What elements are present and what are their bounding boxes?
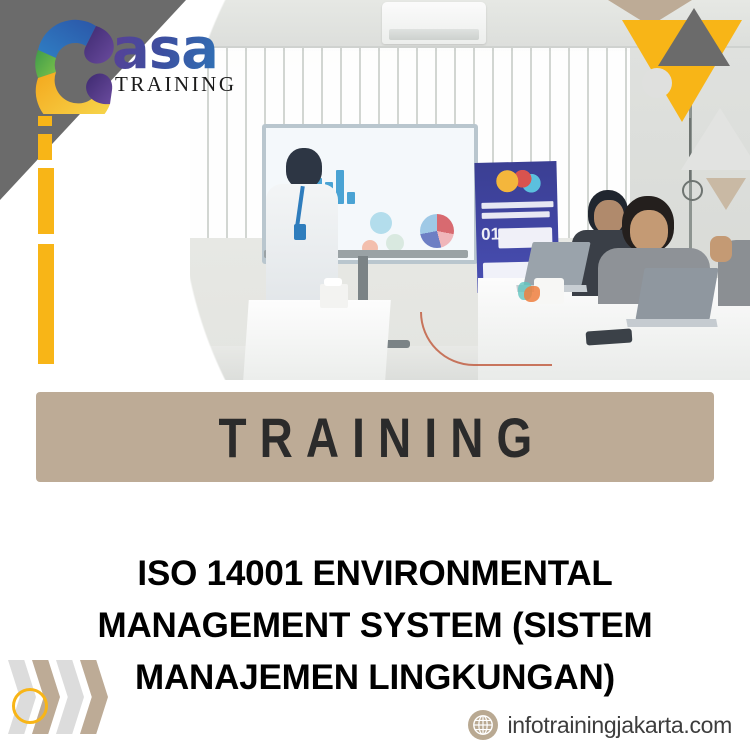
front-table <box>243 300 391 380</box>
light-circle-decor <box>642 68 672 98</box>
course-title-line-1: ISO 14001 ENVIRONMENTAL <box>42 548 708 600</box>
chevron-3-icon <box>56 660 84 734</box>
rollup-banner-line2 <box>482 211 550 219</box>
website-footer[interactable]: infotrainingjakarta.com <box>468 710 733 740</box>
yellow-ring-decor <box>12 688 48 724</box>
presenter-badge <box>294 224 306 240</box>
laptop-2 <box>635 268 718 320</box>
display-pie-chart-icon <box>420 214 454 248</box>
chevron-4-icon <box>80 660 108 734</box>
rollup-banner-graphic <box>493 167 542 194</box>
light-gray-triangle-decor <box>681 108 750 170</box>
globe-icon <box>468 710 498 740</box>
tissue-box-2 <box>534 278 564 304</box>
course-title: ISO 14001 ENVIRONMENTAL MANAGEMENT SYSTE… <box>42 548 708 704</box>
participant-3-arm <box>710 236 732 262</box>
yellow-bar-1-decor <box>38 116 52 126</box>
participant-1-face <box>594 200 624 234</box>
website-url: infotrainingjakarta.com <box>508 712 733 739</box>
training-banner-label: TRAINING <box>205 405 545 470</box>
course-title-line-3: MANAJEMEN LINGKUNGAN) <box>42 652 708 704</box>
rollup-banner-line1 <box>481 201 553 209</box>
participant-2-face <box>630 210 668 252</box>
brand-subtitle: TRAINING <box>115 72 236 97</box>
air-conditioner-icon <box>382 2 486 44</box>
yellow-bar-4-decor <box>38 244 54 364</box>
brand-name: asa <box>112 24 236 76</box>
gray-ring-decor <box>682 180 703 201</box>
training-banner: TRAINING <box>36 392 714 482</box>
poster-canvas: 01 02 <box>0 0 750 750</box>
tan-triangle-decor <box>706 178 746 210</box>
gray-triangle-decor <box>658 8 730 66</box>
course-title-line-2: MANAGEMENT SYSTEM (SISTEM <box>42 600 708 652</box>
yellow-bar-3-decor <box>38 168 54 234</box>
display-bubble-1 <box>370 212 392 234</box>
yellow-bar-2-decor <box>38 134 52 160</box>
brand-logo[interactable]: asa TRAINING <box>24 8 264 118</box>
brand-logo-text: asa TRAINING <box>112 24 236 97</box>
tissue-box-1 <box>320 284 348 308</box>
presenter-head <box>286 148 322 188</box>
